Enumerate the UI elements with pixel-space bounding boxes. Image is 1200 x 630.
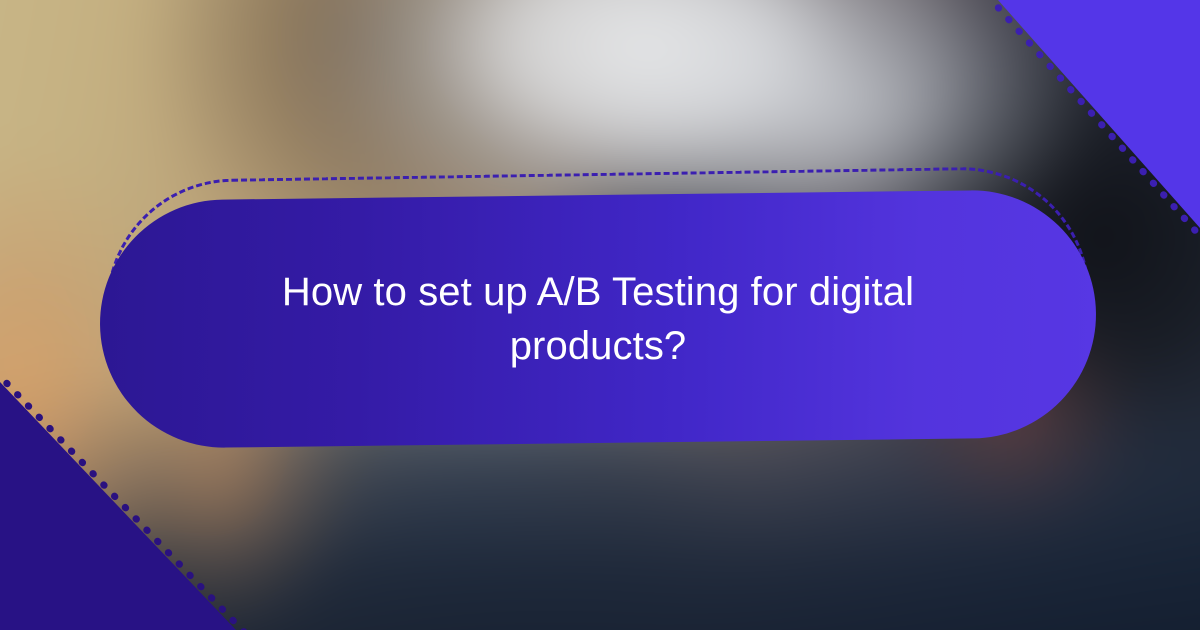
page-title: How to set up A/B Testing for digital pr…: [248, 265, 948, 373]
banner-body: How to set up A/B Testing for digital pr…: [99, 189, 1098, 449]
title-banner: How to set up A/B Testing for digital pr…: [100, 185, 1096, 447]
social-card: How to set up A/B Testing for digital pr…: [0, 0, 1200, 630]
